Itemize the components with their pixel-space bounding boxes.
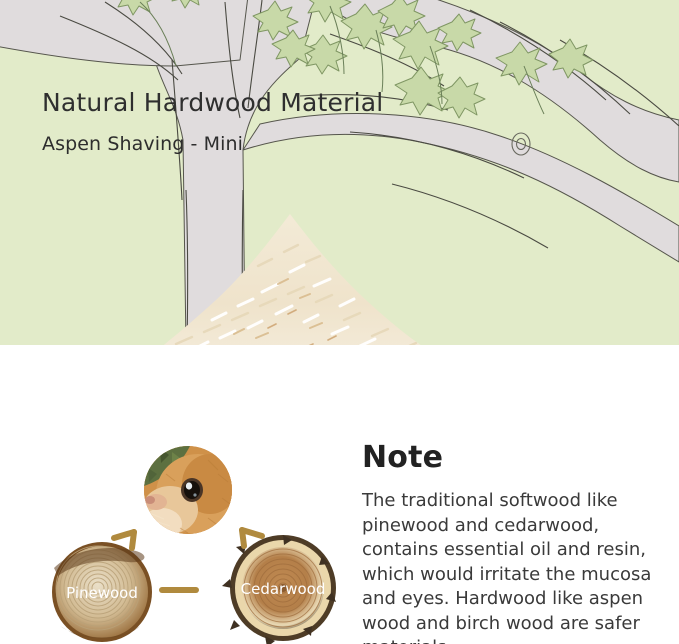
hero-section: Natural Hardwood Material Aspen Shaving … xyxy=(0,0,679,345)
hamster-photo xyxy=(142,446,240,540)
pinewood-slice: Pinewood xyxy=(52,542,152,642)
pinewood-label: Pinewood xyxy=(66,584,138,602)
product-infographic: Natural Hardwood Material Aspen Shaving … xyxy=(0,0,679,644)
note-block: Note The traditional softwood like pinew… xyxy=(362,443,662,644)
cedarwood-slice: Cedarwood xyxy=(222,535,336,644)
note-heading: Note xyxy=(362,443,662,473)
aspen-shaving-pile-photo xyxy=(52,196,532,345)
note-section: Pinewood xyxy=(0,345,679,644)
product-subtitle: Aspen Shaving - Mini xyxy=(42,133,243,155)
page-title: Natural Hardwood Material xyxy=(42,88,383,117)
softwood-warning-diagram: Pinewood xyxy=(40,440,350,644)
note-body-text: The traditional softwood like pinewood a… xyxy=(362,489,652,644)
cedarwood-label: Cedarwood xyxy=(241,580,326,598)
